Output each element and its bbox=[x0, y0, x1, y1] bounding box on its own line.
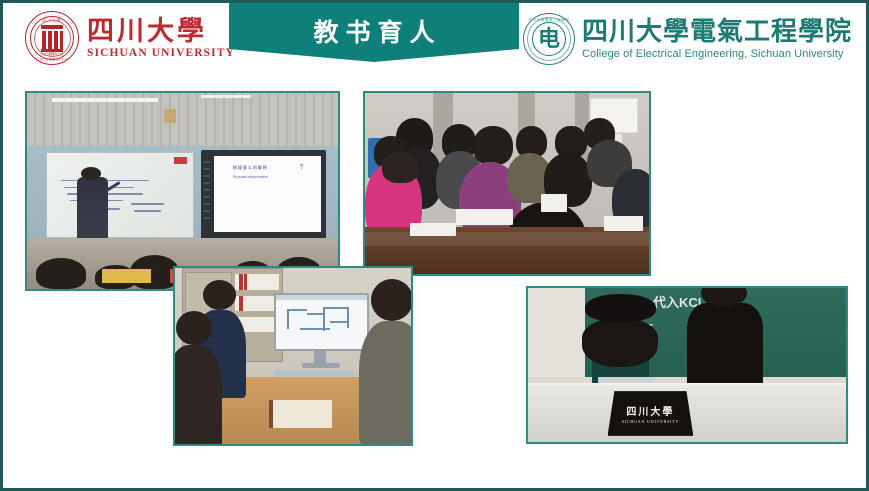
crest-glyph: 电 bbox=[532, 22, 566, 56]
gate-tower-icon bbox=[41, 25, 63, 51]
college-name-cn: 四川大學電氣工程學院 bbox=[582, 18, 852, 45]
placard-name-en: SICHUAN UNIVERSITY bbox=[622, 419, 679, 424]
title-ribbon: 教书育人 bbox=[229, 3, 519, 62]
open-notebook bbox=[269, 400, 332, 428]
seal-arc-top-text: 四川大學 bbox=[25, 18, 79, 24]
college-name-en: College of Electrical Engineering, Sichu… bbox=[582, 48, 852, 60]
photo-group-seminar bbox=[363, 91, 651, 276]
college-wordmark: 四川大學電氣工程學院 College of Electrical Enginee… bbox=[582, 18, 852, 60]
seal-arc-bottom-text: SICHUAN UNIVERSITY bbox=[25, 52, 79, 62]
slide-title: 教书育人 bbox=[306, 13, 441, 49]
university-name-en: SICHUAN UNIVERSITY bbox=[87, 47, 235, 59]
screen-title-en: Physical interpretation bbox=[233, 175, 268, 179]
photo-computer-lab-discussion bbox=[173, 266, 413, 446]
university-name-cn: 四川大學 bbox=[87, 17, 235, 45]
university-wordmark: 四川大學 SICHUAN UNIVERSITY bbox=[87, 17, 235, 59]
whiteboard bbox=[46, 152, 194, 238]
photo-classroom: 物理意义的解释 Physical interpretation ? bbox=[25, 91, 340, 291]
desktop-monitor bbox=[274, 293, 368, 351]
college-of-electrical-engineering-logo: 四川大學電氣工程學院 电 四川大學電氣工程學院 College of Elect… bbox=[523, 8, 858, 70]
university-seal-icon: 四川大學 1896 SICHUAN UNIVERSITY bbox=[25, 11, 79, 65]
college-crest-icon: 四川大學電氣工程學院 电 bbox=[523, 13, 575, 65]
screen-title-cn: 物理意义的解释 bbox=[233, 165, 268, 171]
slide-header: 四川大學 1896 SICHUAN UNIVERSITY 四川大學 SICHUA… bbox=[3, 3, 869, 75]
placard-name-cn: 四川大學 bbox=[626, 403, 674, 418]
student-figure bbox=[173, 345, 222, 446]
student-figure bbox=[359, 321, 413, 444]
university-placard: 四川大學 SICHUAN UNIVERSITY bbox=[608, 391, 694, 436]
photo-classroom-desk-tutoring: 代入KCL方程 节点电压 四川大學 SICHUAN UNIVERSITY bbox=[526, 286, 848, 444]
screen-question-mark: ? bbox=[300, 164, 304, 171]
slide: 四川大學 1896 SICHUAN UNIVERSITY 四川大學 SICHUA… bbox=[0, 0, 869, 491]
projection-screen: 物理意义的解释 Physical interpretation ? bbox=[201, 150, 325, 240]
sichuan-university-logo: 四川大學 1896 SICHUAN UNIVERSITY 四川大學 SICHUA… bbox=[25, 7, 221, 69]
